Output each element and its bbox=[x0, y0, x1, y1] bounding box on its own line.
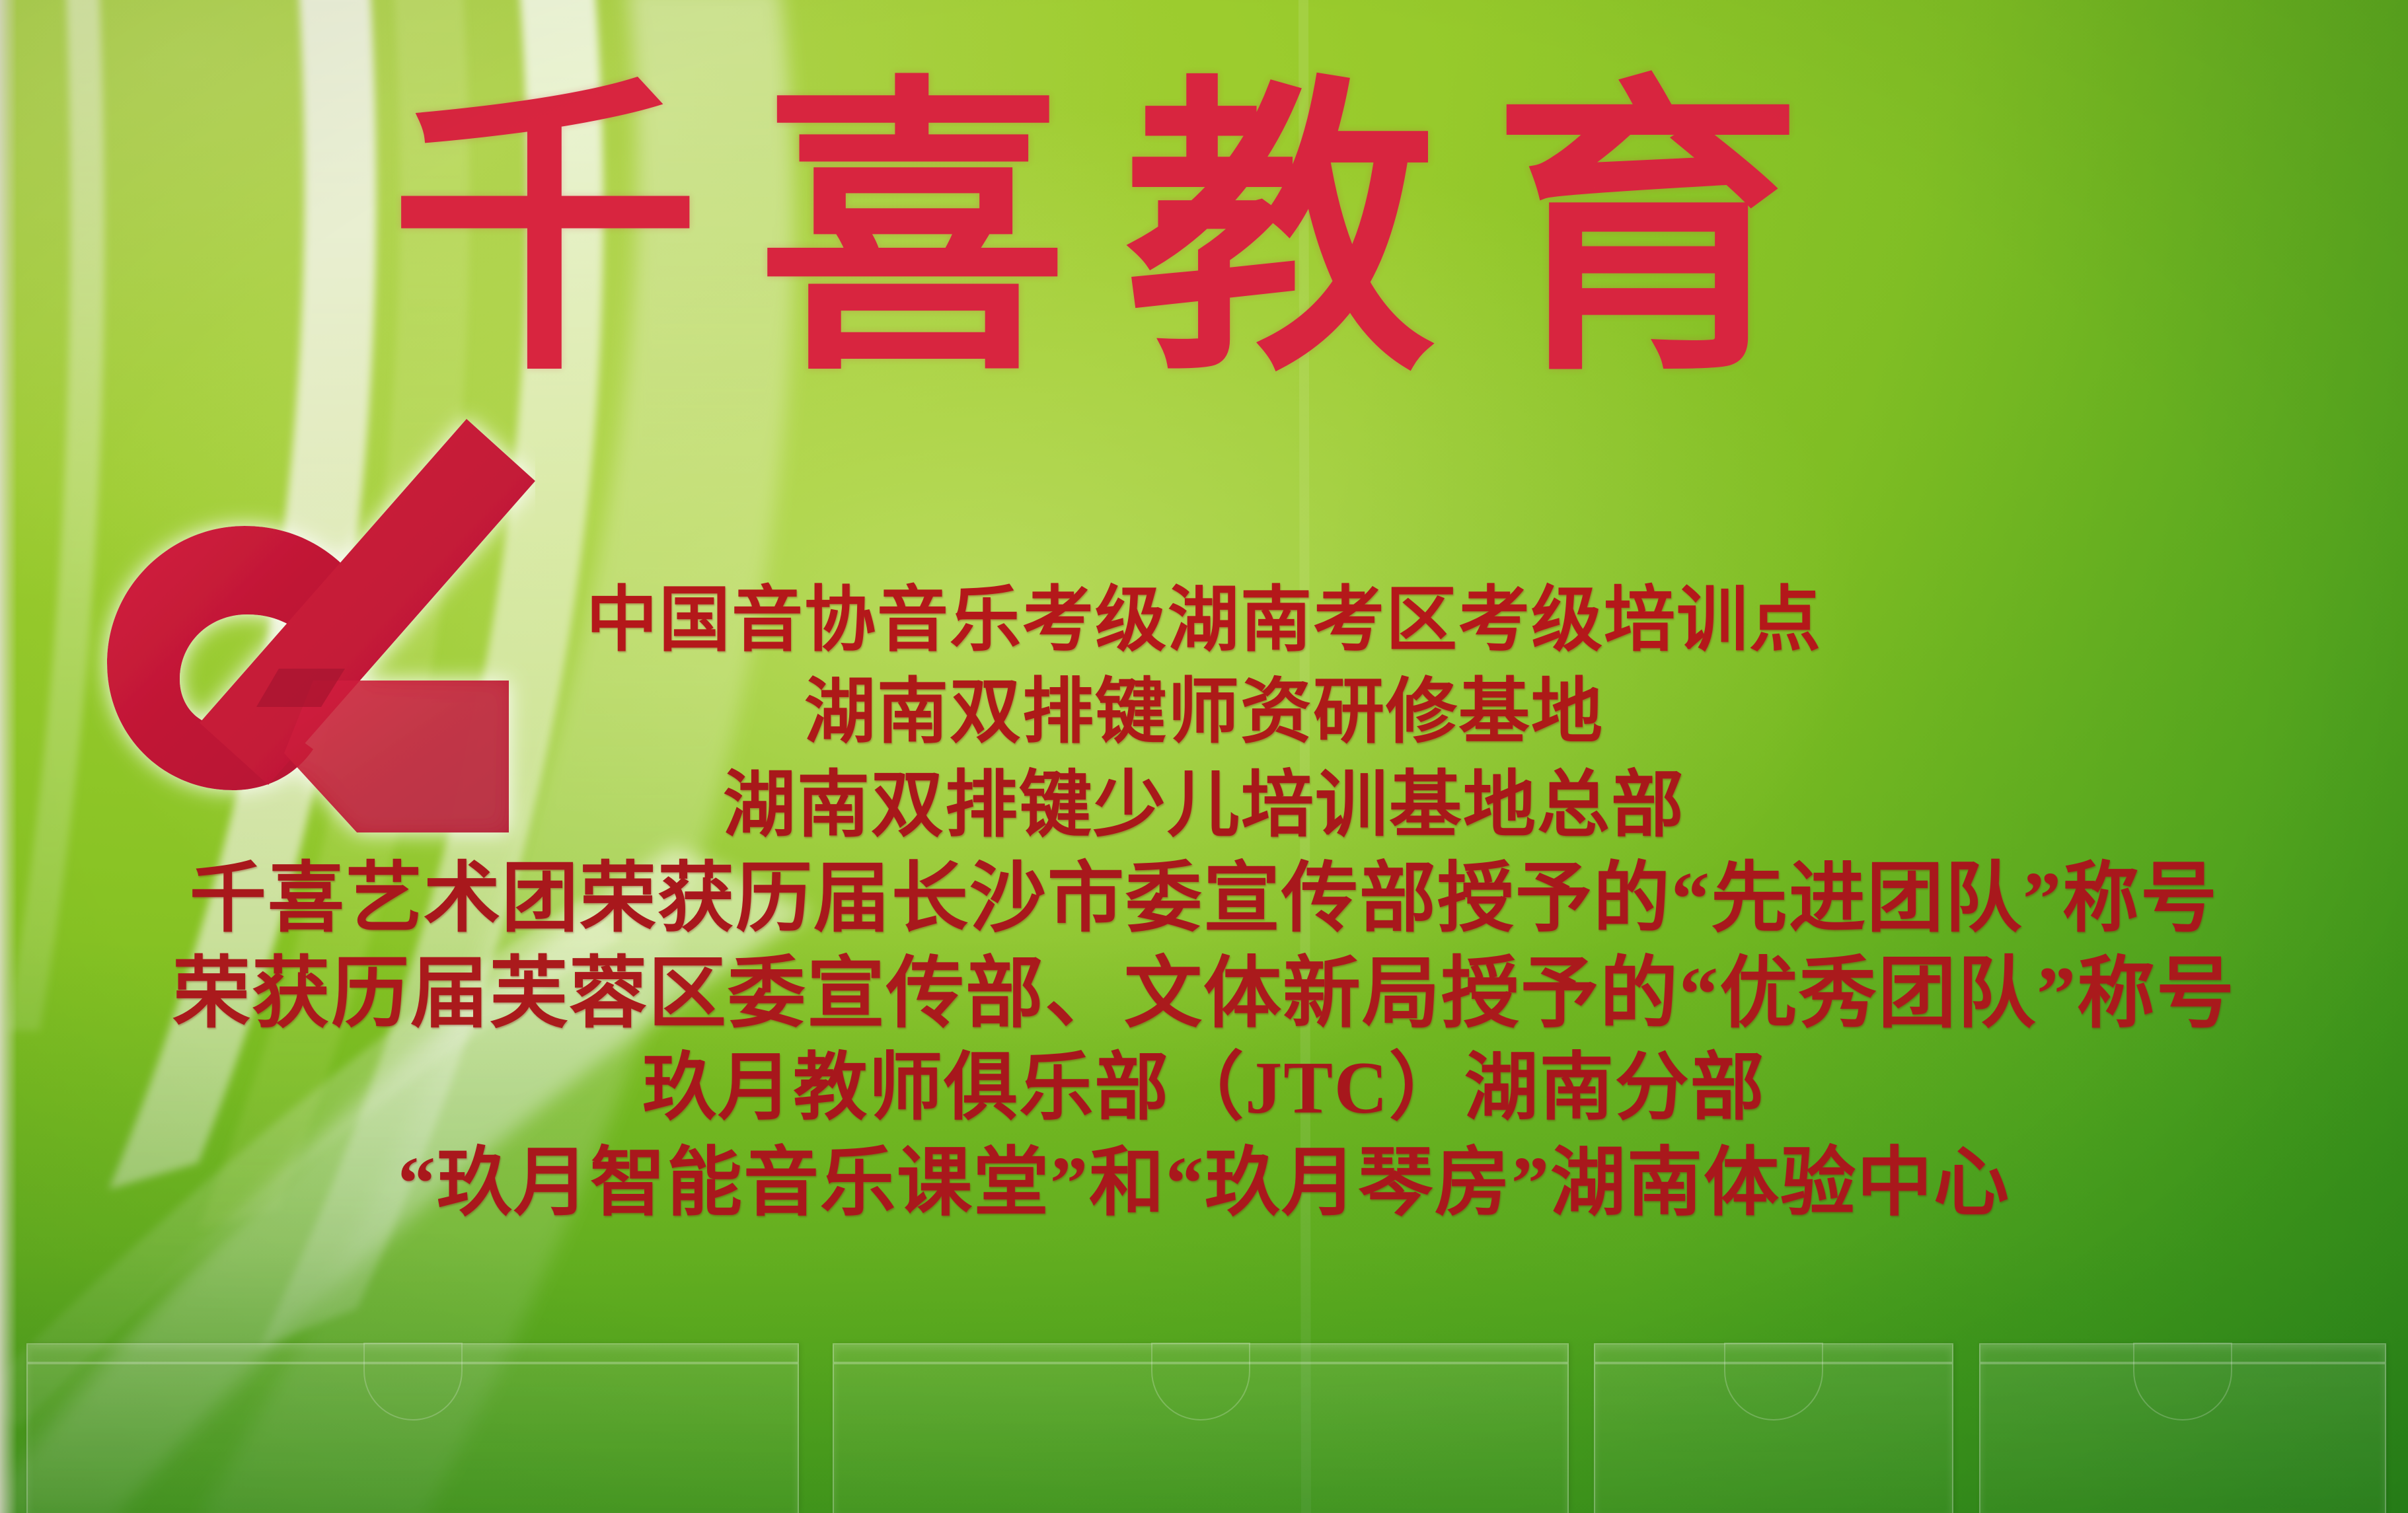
brochure-holder-4[interactable] bbox=[1979, 1343, 2386, 1513]
credential-line-3: 湖南双排键少儿培训基地总部 bbox=[0, 765, 2408, 846]
title-char-4: 育 bbox=[1492, 79, 1803, 390]
holder-notch bbox=[1724, 1343, 1823, 1421]
credential-line-7: “玖月智能音乐课堂”和“玖月琴房”湖南体验中心 bbox=[0, 1141, 2408, 1226]
signage-photo: 千 喜 教 育 中国音协音乐考级湖南考区考级培训点 湖南双排键师资研修基地 湖南… bbox=[0, 0, 2408, 1513]
page-title: 千 喜 教 育 bbox=[390, 36, 2042, 433]
credential-line-5: 荣获历届芙蓉区委宣传部、文体新局授予的“优秀团队”称号 bbox=[0, 951, 2408, 1038]
credential-line-1: 中国音协音乐考级湖南考区考级培训点 bbox=[0, 581, 2408, 661]
holder-notch bbox=[2133, 1343, 2232, 1421]
holder-notch bbox=[363, 1343, 463, 1421]
credentials-list: 中国音协音乐考级湖南考区考级培训点 湖南双排键师资研修基地 湖南双排键少儿培训基… bbox=[0, 581, 2408, 1225]
brochure-holder-2[interactable] bbox=[833, 1343, 1569, 1513]
title-char-1: 千 bbox=[390, 79, 700, 390]
brochure-holder-3[interactable] bbox=[1594, 1343, 1953, 1513]
credential-line-6: 玖月教师俱乐部（JTC）湖南分部 bbox=[0, 1047, 2408, 1130]
title-char-3: 教 bbox=[1125, 79, 1435, 390]
title-char-2: 喜 bbox=[757, 79, 1068, 390]
holder-notch bbox=[1151, 1343, 1250, 1421]
credential-line-2: 湖南双排键师资研修基地 bbox=[0, 673, 2408, 753]
brochure-holder-row bbox=[0, 1345, 2408, 1513]
brochure-holder-1[interactable] bbox=[26, 1343, 799, 1513]
credential-line-4: 千喜艺术团荣获历届长沙市委宣传部授予的“先进团队”称号 bbox=[0, 857, 2408, 943]
